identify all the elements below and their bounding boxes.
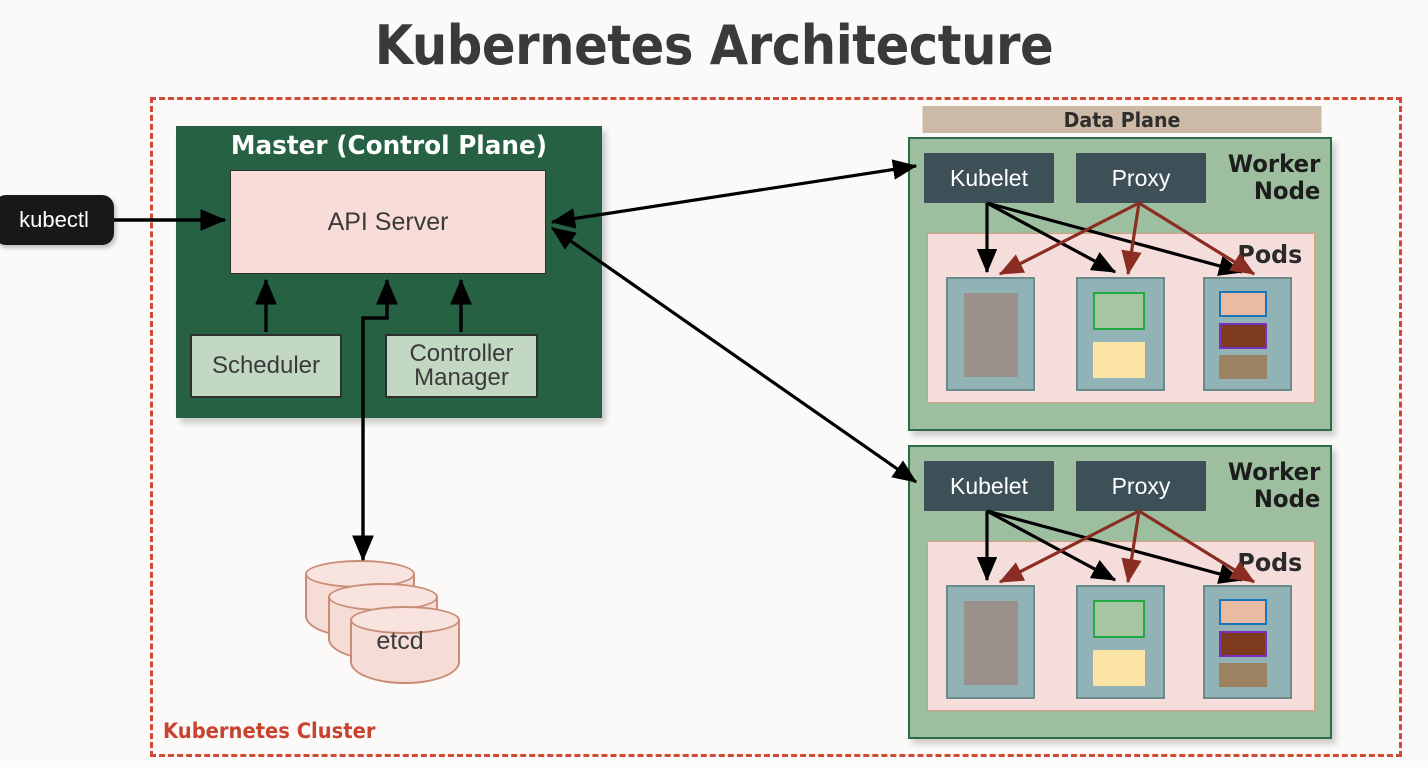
proxy-box-node-1[interactable]: Proxy [1076, 153, 1206, 203]
container-peach [1219, 599, 1267, 625]
kubernetes-cluster-label: Kubernetes Cluster [163, 719, 375, 743]
worker-node-1[interactable]: WorkerNode Kubelet Proxy Pods [908, 137, 1332, 431]
kubectl-label: kubectl [19, 207, 89, 233]
pod-node-1-3[interactable] [1203, 277, 1292, 391]
pod-node-2-3[interactable] [1203, 585, 1292, 699]
pod-node-2-1[interactable] [946, 585, 1035, 699]
container-yellow [1093, 650, 1145, 686]
etcd-label: etcd [340, 627, 460, 656]
container-tan [1219, 355, 1267, 379]
container-green [1093, 600, 1145, 638]
data-plane-header: Data Plane [923, 106, 1322, 133]
pods-container-node-1: Pods [927, 233, 1315, 403]
api-server-box[interactable]: API Server [230, 170, 546, 274]
kubelet-box-node-1[interactable]: Kubelet [924, 153, 1054, 203]
diagram-canvas: Kubernetes Architecture Kubernetes Clust… [0, 0, 1428, 767]
master-control-plane-title: Master (Control Plane) [187, 131, 592, 161]
pod-node-1-2[interactable] [1076, 277, 1165, 391]
container-yellow [1093, 342, 1145, 378]
worker-node-2-label: WorkerNode [1227, 459, 1320, 513]
pod-node-1-1[interactable] [946, 277, 1035, 391]
container-gray [964, 293, 1018, 377]
worker-node-2[interactable]: WorkerNode Kubelet Proxy Pods [908, 445, 1332, 739]
container-brown [1219, 323, 1267, 349]
pods-container-node-2: Pods [927, 541, 1315, 711]
kubelet-box-node-2[interactable]: Kubelet [924, 461, 1054, 511]
proxy-label: Proxy [1112, 165, 1171, 192]
kubelet-label: Kubelet [950, 165, 1028, 192]
proxy-box-node-2[interactable]: Proxy [1076, 461, 1206, 511]
scheduler-box[interactable]: Scheduler [190, 334, 342, 398]
page-title: Kubernetes Architecture [57, 14, 1371, 77]
container-peach [1219, 291, 1267, 317]
pod-node-2-2[interactable] [1076, 585, 1165, 699]
api-server-label: API Server [328, 208, 449, 237]
controller-manager-box[interactable]: ControllerManager [385, 334, 538, 398]
kubectl-client-box[interactable]: kubectl [0, 195, 114, 245]
pods-label-node-2: Pods [1237, 548, 1302, 577]
proxy-label: Proxy [1112, 473, 1171, 500]
scheduler-label: Scheduler [212, 352, 320, 380]
container-green [1093, 292, 1145, 330]
container-gray [964, 601, 1018, 685]
pods-label-node-1: Pods [1237, 240, 1302, 269]
controller-manager-label: ControllerManager [409, 342, 513, 391]
container-tan [1219, 663, 1267, 687]
kubelet-label: Kubelet [950, 473, 1028, 500]
container-brown [1219, 631, 1267, 657]
data-plane-label: Data Plane [1064, 108, 1181, 132]
worker-node-1-label: WorkerNode [1227, 151, 1320, 205]
